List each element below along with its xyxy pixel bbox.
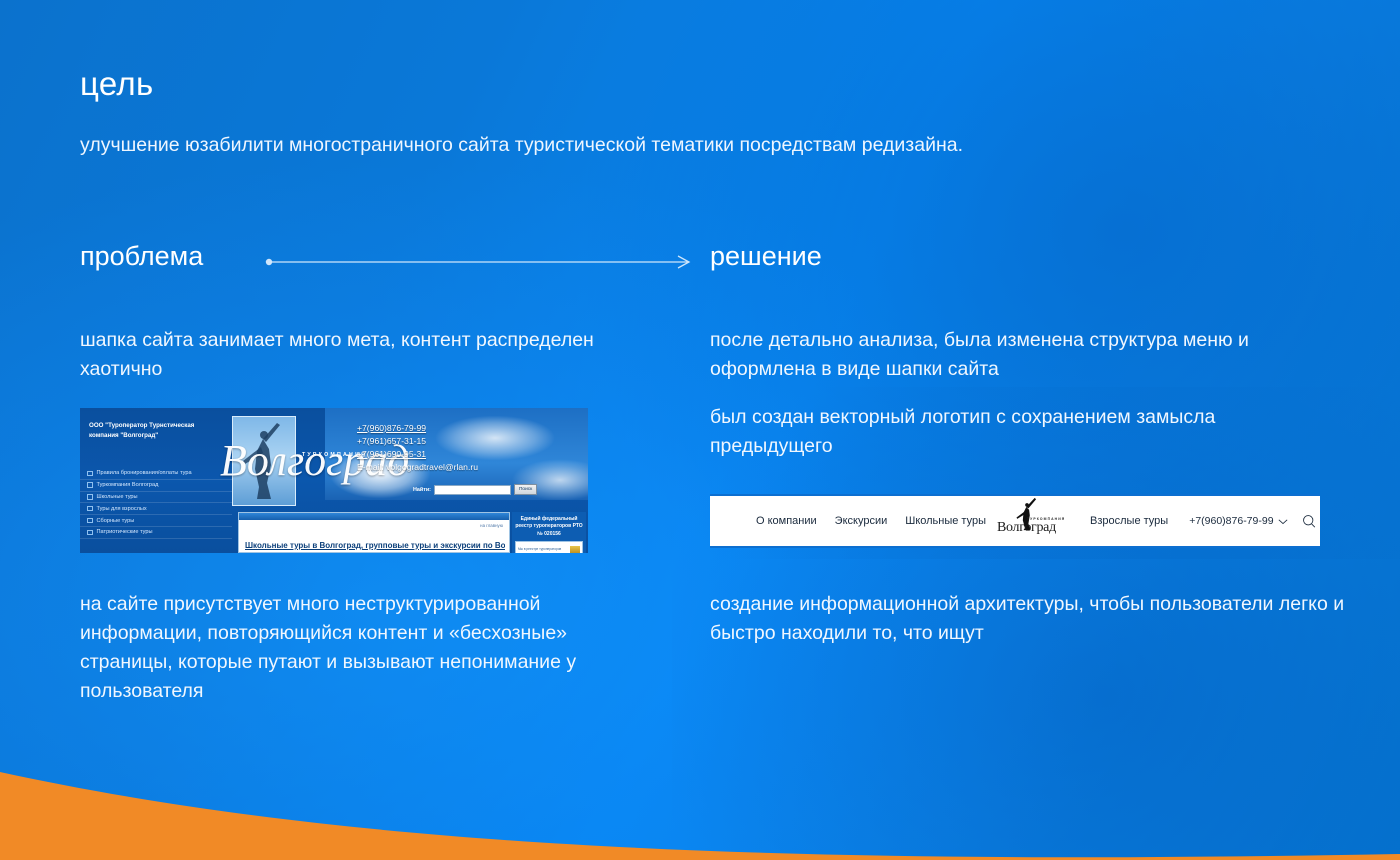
problem-text-2: на сайте присутствует много неструктурир… — [80, 590, 620, 705]
old-site-phone-2: +7(961)657-31-15 — [357, 435, 557, 448]
old-site-sidebar-menu: Правила бронирования/оплаты тура Туркомп… — [80, 468, 232, 539]
problem-text-1: шапка сайта занимает много мета, контент… — [80, 326, 640, 384]
old-site-menu-item-3[interactable]: Туры для взрослых — [80, 503, 232, 515]
new-site-logo-wordmark: Волгоград — [997, 520, 1056, 536]
nav-item-school-tours[interactable]: Школьные туры — [896, 515, 995, 527]
old-site-menu-item-0[interactable]: Правила бронирования/оплаты тура — [80, 468, 232, 480]
new-site-logo[interactable]: ТУРКОМПАНИЯ Волгоград — [997, 501, 1079, 541]
chevron-down-icon — [1278, 518, 1288, 525]
old-site-content-panel: на главную Школьные туры в Волгоград, гр… — [238, 512, 510, 553]
bullet-square-icon — [87, 518, 93, 524]
new-site-navbar: О компании Экскурсии Школьные туры ТУРКО… — [710, 501, 1320, 541]
bullet-square-icon — [87, 494, 93, 500]
old-site-menu-label: Сборные туры — [97, 518, 135, 524]
old-site-registry-panel: Единый федеральный реестр туроператоров … — [512, 512, 586, 553]
old-site-company-name: ООО "Туроператор Турнстическая компания … — [89, 421, 219, 440]
new-site-phone[interactable]: +7(960)876-79-99 — [1189, 515, 1287, 527]
old-site-menu-label: Школьные туры — [97, 494, 138, 500]
old-site-search: Найти: Поиск — [413, 484, 537, 495]
bullet-square-icon — [87, 530, 93, 536]
solution-text-2: был создан векторный логотип с сохранени… — [710, 403, 1270, 461]
bullet-square-icon — [87, 471, 93, 477]
page-title: цель — [80, 66, 153, 102]
old-site-menu-label: Правила бронирования/оплаты тура — [97, 470, 192, 476]
arrow-right-icon — [265, 248, 695, 276]
new-site-header-icons — [1302, 514, 1320, 528]
emblem-icon — [570, 546, 580, 553]
solution-text-3: создание информационной архитектуры, что… — [710, 590, 1350, 648]
goal-description: улучшение юзабилити многостраничного сай… — [80, 131, 1010, 159]
old-site-contacts: +7(960)876-79-99 +7(961)657-31-15 +7(961… — [357, 422, 557, 474]
solution-text-1: после детально анализа, была изменена ст… — [710, 326, 1250, 384]
bullet-square-icon — [87, 506, 93, 512]
new-website-header-mockup: О компании Экскурсии Школьные туры ТУРКО… — [710, 494, 1320, 548]
old-site-menu-label: Туркомпания Волгоград — [97, 482, 159, 488]
old-site-menu-label: Патриотические туры — [97, 529, 153, 535]
old-site-menu-label: Туры для взрослых — [97, 506, 147, 512]
old-site-email: E-mail: volgogradtravel@rlan.ru — [357, 461, 557, 474]
old-site-search-input[interactable] — [434, 485, 511, 495]
nav-item-adult-tours[interactable]: Взрослые туры — [1081, 515, 1177, 527]
old-site-menu-item-4[interactable]: Сборные туры — [80, 515, 232, 527]
old-site-content-heading: Школьные туры в Волгоград, групповые тур… — [245, 541, 505, 550]
old-site-phone-1: +7(960)876-79-99 — [357, 422, 557, 435]
old-site-monument-photo — [232, 416, 296, 506]
bullet-square-icon — [87, 482, 93, 488]
old-website-screenshot: ООО "Туроператор Турнстическая компания … — [80, 408, 588, 553]
old-site-menu-item-1[interactable]: Туркомпания Волгоград — [80, 480, 232, 492]
old-site-search-label: Найти: — [413, 487, 431, 493]
nav-item-excursions[interactable]: Экскурсии — [826, 515, 897, 527]
old-site-breadcrumb[interactable]: на главную — [480, 523, 503, 528]
slide-content: цель улучшение юзабилити многостраничног… — [0, 0, 1400, 860]
problem-heading: проблема — [80, 241, 203, 272]
nav-item-about[interactable]: О компании — [747, 515, 826, 527]
old-site-registry-badge[interactable]: Мы в реестре туроператоров — [515, 541, 583, 553]
old-site-search-button[interactable]: Поиск — [514, 484, 537, 495]
old-site-registry-badge-text: Мы в реестре туроператоров — [518, 548, 561, 552]
old-site-phone-3: +7(961)690-95-31 — [357, 448, 557, 461]
old-site-content-topbar — [239, 513, 509, 520]
solution-heading: решение — [710, 241, 822, 272]
presentation-slide: цель улучшение юзабилити многостраничног… — [0, 0, 1400, 860]
motherland-statue-icon — [233, 417, 295, 505]
old-site-menu-item-5[interactable]: Патриотические туры — [80, 527, 232, 539]
old-site-registry-title: Единый федеральный реестр туроператоров … — [512, 512, 586, 540]
old-site-menu-item-2[interactable]: Школьные туры — [80, 492, 232, 504]
search-icon[interactable] — [1302, 514, 1316, 528]
new-site-phone-number: +7(960)876-79-99 — [1189, 515, 1273, 527]
